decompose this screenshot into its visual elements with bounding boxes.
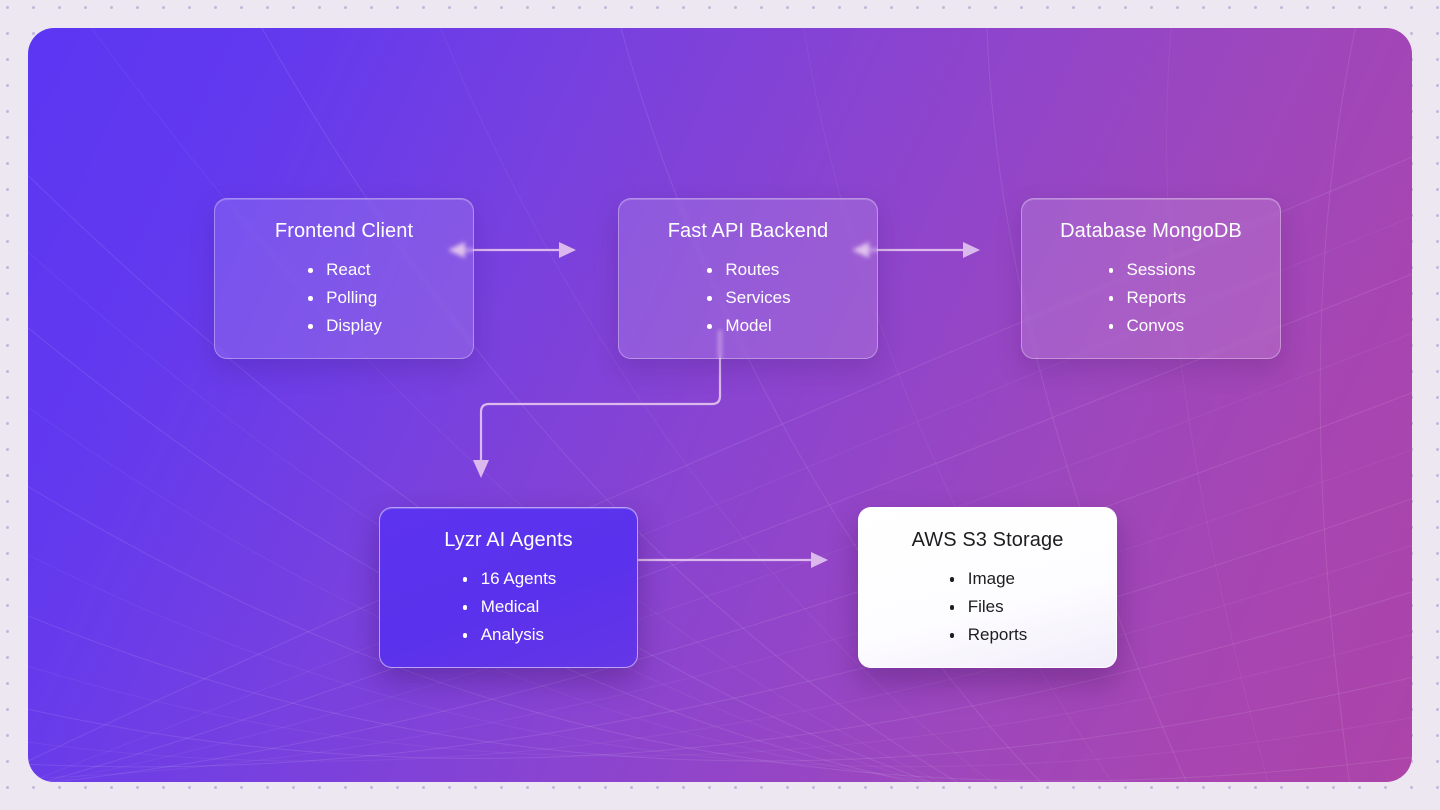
list-item: Services bbox=[705, 284, 790, 312]
list-item: React bbox=[306, 256, 382, 284]
bullet-icon bbox=[707, 268, 712, 273]
list-item-label: Routes bbox=[725, 260, 779, 279]
node-title: Fast API Backend bbox=[668, 219, 829, 243]
bullet-icon bbox=[463, 577, 468, 582]
bullet-icon bbox=[463, 633, 468, 638]
bullet-icon bbox=[1109, 324, 1114, 329]
bullet-icon bbox=[308, 296, 313, 301]
background-mesh-texture bbox=[28, 28, 1412, 782]
list-item-label: Reports bbox=[968, 625, 1028, 644]
list-item: Reports bbox=[1107, 284, 1196, 312]
node-title: AWS S3 Storage bbox=[912, 528, 1064, 552]
bullet-icon bbox=[463, 605, 468, 610]
list-item-label: Display bbox=[326, 316, 382, 335]
list-item-label: React bbox=[326, 260, 370, 279]
list-item: Polling bbox=[306, 284, 382, 312]
list-item: Routes bbox=[705, 256, 790, 284]
diagram-panel: Frontend Client React Polling Display Fa… bbox=[28, 28, 1412, 782]
list-item: Analysis bbox=[461, 621, 557, 649]
node-card-frontend[interactable]: Frontend Client React Polling Display bbox=[214, 198, 474, 359]
list-item: Files bbox=[948, 593, 1028, 621]
list-item-label: Medical bbox=[481, 597, 540, 616]
node-item-list: Sessions Reports Convos bbox=[1107, 256, 1196, 340]
list-item-label: 16 Agents bbox=[481, 569, 557, 588]
list-item-label: Files bbox=[968, 597, 1004, 616]
list-item-label: Reports bbox=[1127, 288, 1187, 307]
list-item: Reports bbox=[948, 621, 1028, 649]
list-item-label: Image bbox=[968, 569, 1015, 588]
node-item-list: Routes Services Model bbox=[705, 256, 790, 340]
list-item: Image bbox=[948, 565, 1028, 593]
node-title: Database MongoDB bbox=[1060, 219, 1242, 243]
bullet-icon bbox=[950, 577, 955, 582]
list-item-label: Model bbox=[725, 316, 771, 335]
list-item-label: Sessions bbox=[1127, 260, 1196, 279]
list-item: Display bbox=[306, 312, 382, 340]
node-card-agents[interactable]: Lyzr AI Agents 16 Agents Medical Analysi… bbox=[379, 507, 638, 668]
list-item: Sessions bbox=[1107, 256, 1196, 284]
list-item: Model bbox=[705, 312, 790, 340]
connector-layer bbox=[28, 28, 1412, 782]
bullet-icon bbox=[950, 633, 955, 638]
list-item-label: Analysis bbox=[481, 625, 544, 644]
bullet-icon bbox=[1109, 296, 1114, 301]
bullet-icon bbox=[1109, 268, 1114, 273]
node-title: Frontend Client bbox=[275, 219, 413, 243]
bullet-icon bbox=[308, 324, 313, 329]
node-card-storage[interactable]: AWS S3 Storage Image Files Reports bbox=[858, 507, 1117, 668]
bullet-icon bbox=[308, 268, 313, 273]
bullet-icon bbox=[707, 296, 712, 301]
bullet-icon bbox=[950, 605, 955, 610]
list-item-label: Polling bbox=[326, 288, 377, 307]
node-card-backend[interactable]: Fast API Backend Routes Services Model bbox=[618, 198, 878, 359]
list-item: 16 Agents bbox=[461, 565, 557, 593]
list-item-label: Services bbox=[725, 288, 790, 307]
node-item-list: 16 Agents Medical Analysis bbox=[461, 565, 557, 649]
node-title: Lyzr AI Agents bbox=[444, 528, 573, 552]
node-item-list: Image Files Reports bbox=[948, 565, 1028, 649]
list-item-label: Convos bbox=[1127, 316, 1185, 335]
bullet-icon bbox=[707, 324, 712, 329]
node-card-database[interactable]: Database MongoDB Sessions Reports Convos bbox=[1021, 198, 1281, 359]
node-item-list: React Polling Display bbox=[306, 256, 382, 340]
list-item: Convos bbox=[1107, 312, 1196, 340]
list-item: Medical bbox=[461, 593, 557, 621]
connector-agents-storage bbox=[612, 552, 828, 568]
